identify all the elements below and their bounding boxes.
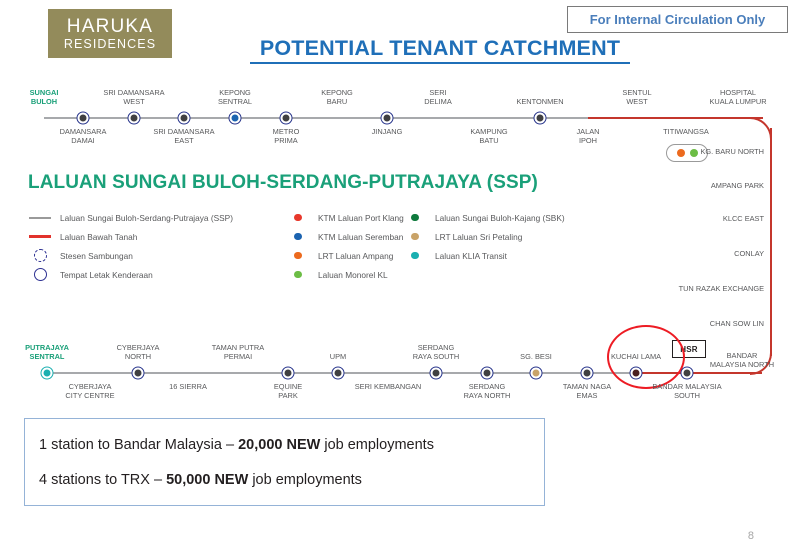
legend-item: Laluan KLIA Transit xyxy=(403,246,603,265)
ssp-line-heading: LALUAN SUNGAI BULOH-SERDANG-PUTRAJAYA (S… xyxy=(28,172,538,194)
station-interchange-dot-icon xyxy=(534,112,547,125)
legend-line-color-icon xyxy=(286,271,310,279)
page-number: 8 xyxy=(748,530,754,542)
legend-line-icon xyxy=(28,217,52,219)
station-label-line: SERDANG xyxy=(376,343,496,352)
legend-item: LRT Laluan Ampang xyxy=(286,246,406,265)
legend-item: Laluan Sungai Buloh-Serdang-Putrajaya (S… xyxy=(28,208,268,227)
station-label: AMPANG PARK xyxy=(620,181,764,190)
callout-line-2-pre: 4 stations to TRX – xyxy=(39,472,166,488)
callout-line-1-bold: 20,000 NEW xyxy=(238,437,320,453)
legend-dot-icon xyxy=(294,271,302,279)
legend-item: KTM Laluan Seremban xyxy=(286,227,406,246)
station-label-line: SERI xyxy=(378,88,498,97)
legend-item-label: LRT Laluan Ampang xyxy=(318,251,393,261)
station-label-line: TAMAN PUTRA xyxy=(178,343,298,352)
station-label-line: AMPANG PARK xyxy=(620,181,764,190)
station-interchange-dot-icon xyxy=(128,112,141,125)
station-dot-core-icon xyxy=(79,114,87,122)
station-label-line: CITY CENTRE xyxy=(30,391,150,400)
station-interchange-dot-icon xyxy=(41,367,54,380)
rail-segment-underground-right xyxy=(770,128,772,356)
legend-dot-icon xyxy=(411,214,419,222)
station-dot-core-icon xyxy=(483,369,491,377)
legend-item-label: KTM Laluan Port Klang xyxy=(318,213,404,223)
callout-line-1-pre: 1 station to Bandar Malaysia – xyxy=(39,437,238,453)
station-dot-core-icon xyxy=(231,114,239,122)
rail-corner-top-right xyxy=(750,117,772,139)
station-label-line: PRIMA xyxy=(226,136,346,145)
station-label-line: KLCC EAST xyxy=(620,214,764,223)
legend-line-color-icon xyxy=(403,233,427,241)
station-interchange-dot-icon xyxy=(481,367,494,380)
station-kentonmen[interactable] xyxy=(534,112,547,125)
internal-circulation-notice: For Internal Circulation Only xyxy=(567,6,788,33)
legend-item-label: Laluan KLIA Transit xyxy=(435,251,507,261)
station-dot-core-icon xyxy=(43,369,51,377)
legend-line-color-icon xyxy=(403,214,427,222)
station-interchange-dot-icon xyxy=(280,112,293,125)
station-dot-core-icon xyxy=(130,114,138,122)
station-dot-core-icon xyxy=(632,369,640,377)
station-label: KLCC EAST xyxy=(620,214,764,223)
station-equine-park[interactable] xyxy=(282,367,295,380)
station-dot-core-icon xyxy=(432,369,440,377)
station-dot-core-icon xyxy=(532,369,540,377)
station-interchange-dot-icon xyxy=(178,112,191,125)
station-label-line: KG. BARU NORTH xyxy=(620,147,764,156)
station-dot-core-icon xyxy=(683,369,691,377)
station-label-line: TUN RAZAK EXCHANGE xyxy=(620,284,764,293)
legend-item: Laluan Sungai Buloh-Kajang (SBK) xyxy=(403,208,603,227)
slide-root: HARUKA RESIDENCES POTENTIAL TENANT CATCH… xyxy=(0,0,800,552)
legend-line-icon xyxy=(28,235,52,237)
station-label: CONLAY xyxy=(620,249,764,258)
legend-item: LRT Laluan Sri Petaling xyxy=(403,227,603,246)
legend-dot-icon xyxy=(294,214,302,222)
callout-line-1-post: job employments xyxy=(320,437,434,453)
station-kepong-sentral[interactable] xyxy=(229,112,242,125)
legend-line-swatch xyxy=(29,235,51,237)
station-label-line: KUALA LUMPUR xyxy=(678,97,798,106)
legend-item: Stesen Sambungan xyxy=(28,246,268,265)
station-label: HOSPITALKUALA LUMPUR xyxy=(678,88,798,106)
callout-line-1: 1 station to Bandar Malaysia – 20,000 NE… xyxy=(39,437,530,453)
station-serdang-raya-north[interactable] xyxy=(481,367,494,380)
rail-segment-ssp-top xyxy=(44,117,589,119)
station-interchange-dot-icon xyxy=(77,112,90,125)
station-dot-core-icon xyxy=(282,114,290,122)
station-interchange-dot-icon xyxy=(381,112,394,125)
station-label: BANDARMALAYSIA NORTH xyxy=(690,351,794,369)
legend-line-swatch xyxy=(29,217,51,219)
station-metro-prima[interactable] xyxy=(280,112,293,125)
legend-line-color-icon xyxy=(286,214,310,222)
station-label-line: HOSPITAL xyxy=(678,88,798,97)
station-label-line: TITIWANGSA xyxy=(626,127,746,136)
station-label-line: CHAN SOW LIN xyxy=(620,319,764,328)
station-cyberjaya-north[interactable] xyxy=(132,367,145,380)
station-label: KG. BARU NORTH xyxy=(620,147,764,156)
station-interchange-dot-icon xyxy=(430,367,443,380)
station-label: TUN RAZAK EXCHANGE xyxy=(620,284,764,293)
station-label-line: IPOH xyxy=(528,136,648,145)
legend-item-label: LRT Laluan Sri Petaling xyxy=(435,232,522,242)
legend-line-color-icon xyxy=(286,252,310,260)
station-jinjang[interactable] xyxy=(381,112,394,125)
legend-item: Tempat Letak Kenderaan xyxy=(28,265,268,284)
legend-dot-icon xyxy=(294,252,302,260)
logo-line-2: RESIDENCES xyxy=(64,37,156,51)
station-label: TITIWANGSA xyxy=(626,127,746,136)
station-interchange-dot-icon xyxy=(581,367,594,380)
station-sri-damansara-west[interactable] xyxy=(128,112,141,125)
legend-column-1: Laluan Sungai Buloh-Serdang-Putrajaya (S… xyxy=(28,208,268,284)
station-dot-core-icon xyxy=(583,369,591,377)
station-label-line: CONLAY xyxy=(620,249,764,258)
station-dot-core-icon xyxy=(180,114,188,122)
station-damansara-damai[interactable] xyxy=(77,112,90,125)
station-sri-damansara-east[interactable] xyxy=(178,112,191,125)
station-label: BANDAR MALAYSIASOUTH xyxy=(627,382,747,400)
legend-dot-icon xyxy=(411,233,419,241)
legend-item-label: Tempat Letak Kenderaan xyxy=(60,270,153,280)
station-interchange-dot-icon xyxy=(229,112,242,125)
legend-item: Laluan Monorel KL xyxy=(286,265,406,284)
station-interchange-dot-icon xyxy=(681,367,694,380)
legend-column-2: KTM Laluan Port KlangKTM Laluan Seremban… xyxy=(286,208,406,284)
station-dot-core-icon xyxy=(536,114,544,122)
station-serdang-raya-south[interactable] xyxy=(430,367,443,380)
station-label: KUCHAI LAMA xyxy=(576,352,696,361)
station-interchange-dot-icon xyxy=(630,367,643,380)
legend-item-label: Laluan Monorel KL xyxy=(318,270,388,280)
station-label-line: PARK xyxy=(228,391,348,400)
station-kuchai-lama[interactable] xyxy=(630,367,643,380)
station-bandar-malaysia-south[interactable] xyxy=(681,367,694,380)
station-dot-core-icon xyxy=(383,114,391,122)
legend-column-3: Laluan Sungai Buloh-Kajang (SBK)LRT Lalu… xyxy=(403,208,603,265)
legend-dot-icon xyxy=(411,252,419,260)
legend-item-label: Laluan Bawah Tanah xyxy=(60,232,137,242)
rail-segment-underground-top xyxy=(588,117,763,119)
station-interchange-dot-icon xyxy=(332,367,345,380)
legend-item: Laluan Bawah Tanah xyxy=(28,227,268,246)
station-dot-core-icon xyxy=(134,369,142,377)
legend-dot-icon xyxy=(294,233,302,241)
legend-line-color-icon xyxy=(286,233,310,241)
internal-circulation-label: For Internal Circulation Only xyxy=(590,12,766,27)
callout-line-2-post: job employments xyxy=(248,472,362,488)
legend-item-label: KTM Laluan Seremban xyxy=(318,232,403,242)
haruka-residences-logo: HARUKA RESIDENCES xyxy=(48,9,172,58)
page-title: POTENTIAL TENANT CATCHMENT xyxy=(250,36,630,64)
legend-item-label: Stesen Sambungan xyxy=(60,251,133,261)
station-interchange-dot-icon xyxy=(132,367,145,380)
station-dot-core-icon xyxy=(284,369,292,377)
legend-line-color-icon xyxy=(403,252,427,260)
station-sg-besi[interactable] xyxy=(530,367,543,380)
station-label-line: BANDAR xyxy=(690,351,794,360)
station-label-line: MALAYSIA NORTH xyxy=(690,360,794,369)
station-label-line: BANDAR MALAYSIA xyxy=(627,382,747,391)
legend-item-label: Laluan Sungai Buloh-Serdang-Putrajaya (S… xyxy=(60,213,233,223)
legend-item: KTM Laluan Port Klang xyxy=(286,208,406,227)
station-interchange-dot-icon xyxy=(282,367,295,380)
station-label-line: SOUTH xyxy=(627,391,747,400)
dashed-circle-icon xyxy=(34,249,47,262)
station-label-line: KUCHAI LAMA xyxy=(576,352,696,361)
legend-parking-icon xyxy=(28,268,52,281)
station-upm[interactable] xyxy=(332,367,345,380)
callout-line-2: 4 stations to TRX – 50,000 NEW job emplo… xyxy=(39,472,530,488)
station-label: CHAN SOW LIN xyxy=(620,319,764,328)
station-putrajaya-sentral[interactable] xyxy=(41,367,54,380)
legend-item-label: Laluan Sungai Buloh-Kajang (SBK) xyxy=(435,213,565,223)
logo-line-1: HARUKA xyxy=(67,17,153,37)
legend-interchange-icon xyxy=(28,249,52,262)
ring-circle-icon xyxy=(34,268,47,281)
callout-line-2-bold: 50,000 NEW xyxy=(166,472,248,488)
job-employment-callout: 1 station to Bandar Malaysia – 20,000 NE… xyxy=(24,418,545,506)
station-interchange-dot-icon xyxy=(530,367,543,380)
station-taman-naga-emas[interactable] xyxy=(581,367,594,380)
station-dot-core-icon xyxy=(334,369,342,377)
